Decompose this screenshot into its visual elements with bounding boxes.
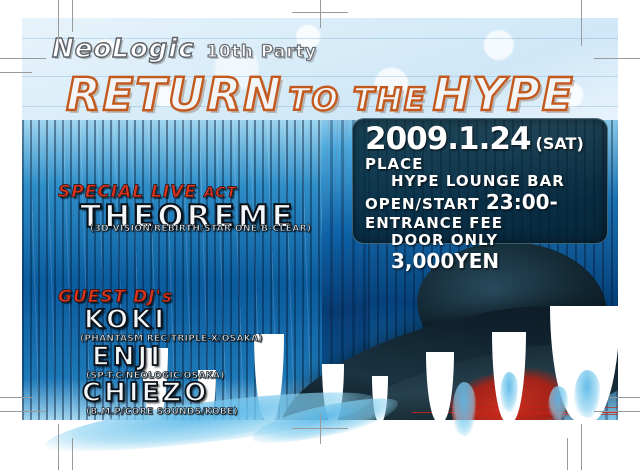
door-only-note: DOOR ONLY bbox=[391, 231, 498, 249]
venue-name: HYPE LOUNGE BAR bbox=[365, 173, 597, 191]
guest-djs-header: GUEST DJ's bbox=[58, 287, 173, 307]
dj-affiliation: (B.M.P/CORE SOUNDS/KOBE) bbox=[86, 407, 238, 417]
title-word-return: RETURN bbox=[66, 68, 283, 121]
open-row: OPEN/START 23:00- bbox=[365, 191, 597, 215]
dj-entry-koki: KOKI (PHANTASM REC/TRIPLE-X/OSAKA) bbox=[84, 305, 263, 344]
open-label: OPEN/START bbox=[365, 195, 480, 213]
brand-edition: 10th Party bbox=[206, 42, 317, 62]
blue-splash-3 bbox=[452, 382, 476, 436]
fee-row: DOOR ONLY 3,000YEN bbox=[365, 232, 597, 273]
live-artist-affiliation: (3D VISION/REBIRTH/STAR ONE/B-CLEAR) bbox=[90, 224, 311, 234]
flyer-canvas: NeoLogic 10th Party RETURN TO THE HYPE 2… bbox=[0, 0, 640, 470]
event-date-row: 2009.1.24(SAT) bbox=[365, 123, 597, 156]
page-title: RETURN TO THE HYPE bbox=[66, 68, 575, 121]
title-word-tothe: TO THE bbox=[289, 82, 428, 118]
place-label: PLACE bbox=[365, 156, 597, 174]
open-time: 23:00- bbox=[486, 190, 558, 214]
dj-name: KOKI bbox=[84, 305, 167, 335]
brand-name: NeoLogic bbox=[52, 34, 195, 64]
title-word-hype: HYPE bbox=[433, 68, 575, 121]
event-day: (SAT) bbox=[536, 134, 584, 153]
entrance-fee-label: ENTRANCE FEE bbox=[365, 215, 597, 233]
event-date: 2009.1.24 bbox=[365, 121, 531, 157]
event-info-panel: 2009.1.24(SAT) PLACE HYPE LOUNGE BAR OPE… bbox=[352, 118, 608, 244]
dj-name: ENJI bbox=[92, 342, 163, 372]
dj-entry-chiezo: CHIEZO (B.M.P/CORE SOUNDS/KOBE) bbox=[82, 378, 238, 417]
dj-entry-enji: ENJI (SP-T.C/NEOLOGIC/OSAKA) bbox=[92, 342, 225, 381]
dj-name: CHIEZO bbox=[82, 378, 209, 408]
fee-amount: 3,000YEN bbox=[391, 249, 499, 273]
brand-line: NeoLogic 10th Party bbox=[52, 34, 317, 64]
